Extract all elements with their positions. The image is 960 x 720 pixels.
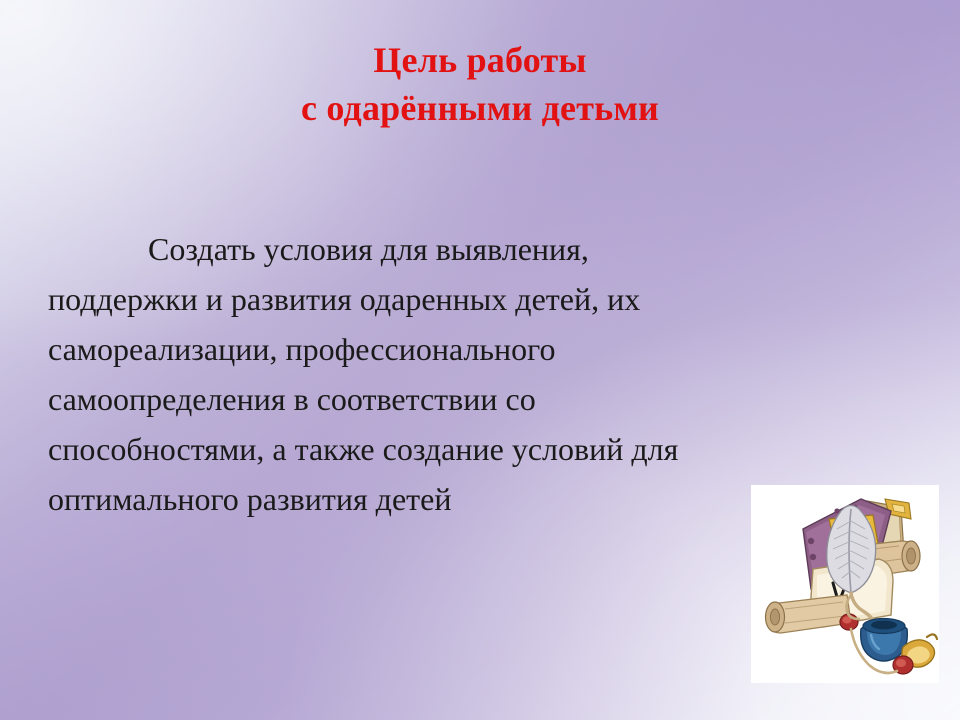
page-title: Цель работы с одарёнными детьми [0, 36, 960, 132]
body-line-2: поддержки и развития одаренных детей, их [48, 274, 928, 324]
body-line-4: самоопределения в соответствии со [48, 374, 928, 424]
page-title-line-1: Цель работы [0, 36, 960, 84]
body-line-1: Создать условия для выявления, [48, 224, 928, 274]
body-line-5: способностями, а также создание условий … [48, 424, 928, 474]
body-line-3: самореализации, профессионального [48, 324, 928, 374]
body-paragraph: Создать условия для выявления, поддержки… [48, 224, 928, 524]
inkwell-group [861, 619, 908, 662]
slide-content: Цель работы с одарёнными детьми Создать … [0, 0, 960, 720]
book-scroll-quill-inkwell-image [751, 485, 939, 683]
book-scroll-quill-inkwell-icon [751, 485, 939, 683]
slide-canvas: Цель работы с одарёнными детьми Создать … [0, 0, 960, 720]
page-title-line-2: с одарёнными детьми [0, 84, 960, 132]
